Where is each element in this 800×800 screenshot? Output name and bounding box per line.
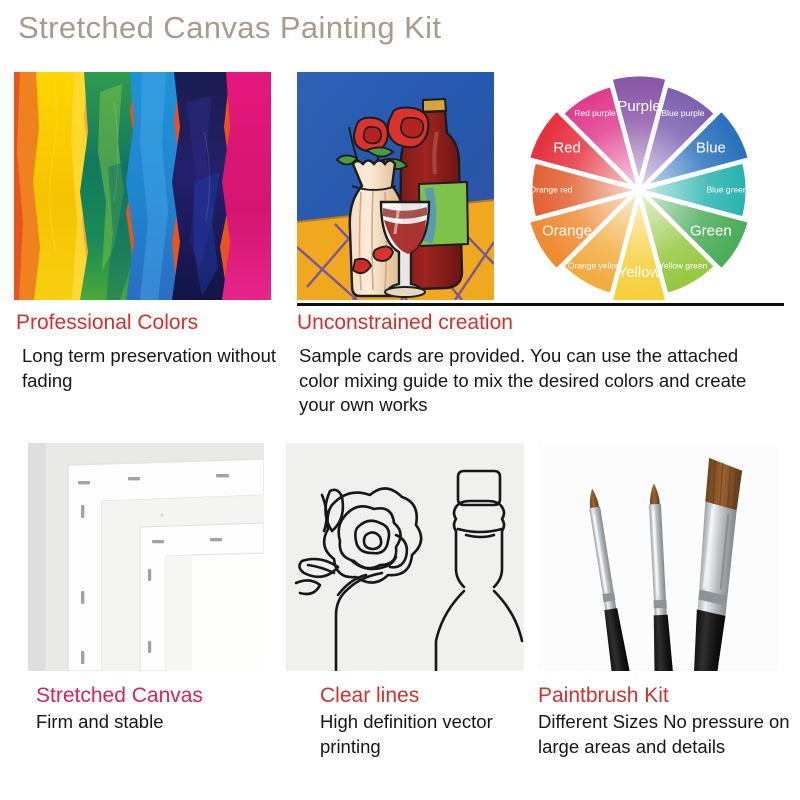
line-art-rose-bottle-photo — [286, 443, 524, 671]
color-wheel-label: Green — [690, 222, 732, 239]
paintbrush-graphic — [538, 443, 778, 671]
color-wheel-label: Orange red — [530, 184, 573, 194]
color-wheel-label: Yellow green — [659, 260, 708, 270]
feature-heading-clear-lines: Clear lines — [320, 684, 419, 708]
color-wheel-label: Orange yellow — [568, 260, 623, 270]
line-art-graphic — [286, 443, 524, 671]
color-wheel-label: Orange — [542, 222, 592, 239]
feature-heading-stretched-canvas: Stretched Canvas — [36, 684, 203, 708]
color-mixing-guide-wheel: PurpleBlue purpleBlueBlue greenGreenYell… — [494, 72, 784, 300]
color-wheel-label: Yellow — [618, 264, 661, 281]
rainbow-paint-strokes-photo — [14, 72, 271, 300]
feature-heading-professional-colors: Professional Colors — [16, 311, 198, 335]
page-title: Stretched Canvas Painting Kit — [18, 10, 441, 46]
color-wheel-label: Red purple — [574, 108, 616, 118]
section-divider-top — [297, 303, 784, 306]
product-infographic: { "title": "Stretched Canvas Painting Ki… — [0, 0, 800, 800]
feature-heading-paintbrush-kit: Paintbrush Kit — [538, 684, 669, 708]
still-life-graphic — [297, 72, 494, 300]
paintbrush-set-photo — [538, 443, 778, 671]
feature-body-clear-lines: High definition vector printing — [320, 710, 535, 759]
canvas-frames-graphic — [28, 443, 264, 671]
color-wheel-label: Purple — [617, 98, 660, 115]
feature-heading-unconstrained-creation: Unconstrained creation — [297, 311, 513, 335]
color-wheel-label: Red — [553, 139, 581, 156]
feature-body-professional-colors: Long term preservation without fading — [22, 344, 284, 393]
still-life-painting-photo — [297, 72, 494, 300]
rainbow-strokes-graphic — [14, 72, 271, 300]
color-wheel-label: Blue green — [706, 184, 747, 194]
color-wheel-label: Blue — [696, 139, 726, 156]
stretched-canvas-frames-photo — [28, 443, 264, 671]
feature-body-stretched-canvas: Firm and stable — [36, 710, 276, 735]
feature-body-paintbrush-kit: Different Sizes No pressure on large are… — [538, 710, 796, 759]
color-wheel-label: Blue purple — [661, 108, 704, 118]
color-wheel-graphic: PurpleBlue purpleBlueBlue greenGreenYell… — [494, 72, 784, 300]
feature-body-unconstrained-creation: Sample cards are provided. You can use t… — [299, 344, 769, 418]
